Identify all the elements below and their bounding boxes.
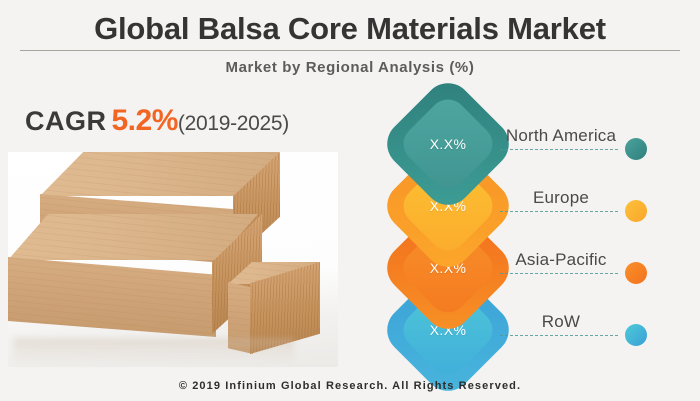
beam-side-face xyxy=(8,257,216,337)
market-infographic: Global Balsa Core Materials Market Marke… xyxy=(0,0,700,400)
region-label-north-america: North America xyxy=(500,126,622,146)
header: Global Balsa Core Materials Market Marke… xyxy=(0,0,700,76)
page-title: Global Balsa Core Materials Market xyxy=(0,0,700,44)
surface-reflection xyxy=(14,338,294,364)
wood-grain-texture xyxy=(8,257,216,337)
copyright-footer: © 2019 Infinium Global Research. All Rig… xyxy=(0,380,700,392)
title-divider xyxy=(20,50,680,51)
legend-connector-line xyxy=(500,335,618,336)
regional-analysis-diagram: X.X% North America X.X% Europe X.X% As xyxy=(380,88,690,378)
region-row-north-america[interactable]: X.X% North America xyxy=(380,88,690,208)
cagr-value: 5.2% xyxy=(112,104,178,138)
cagr-label: CAGR xyxy=(25,106,107,137)
cagr-period: (2019-2025) xyxy=(178,112,289,136)
wood-grain-texture xyxy=(8,214,258,260)
legend-connector-line xyxy=(500,211,618,212)
balsa-wood-beams-photo xyxy=(8,152,338,367)
legend-dot-north-america[interactable] xyxy=(625,138,647,160)
page-subtitle: Market by Regional Analysis (%) xyxy=(0,59,700,76)
region-percent-north-america: X.X% xyxy=(392,88,504,200)
cagr-statistic: CAGR 5.2% (2019-2025) xyxy=(25,104,289,138)
beam-top-face xyxy=(8,214,258,260)
legend-connector-line xyxy=(500,149,618,150)
region-diamond-north-america[interactable]: X.X% xyxy=(392,88,504,200)
legend-connector-line xyxy=(500,273,618,274)
